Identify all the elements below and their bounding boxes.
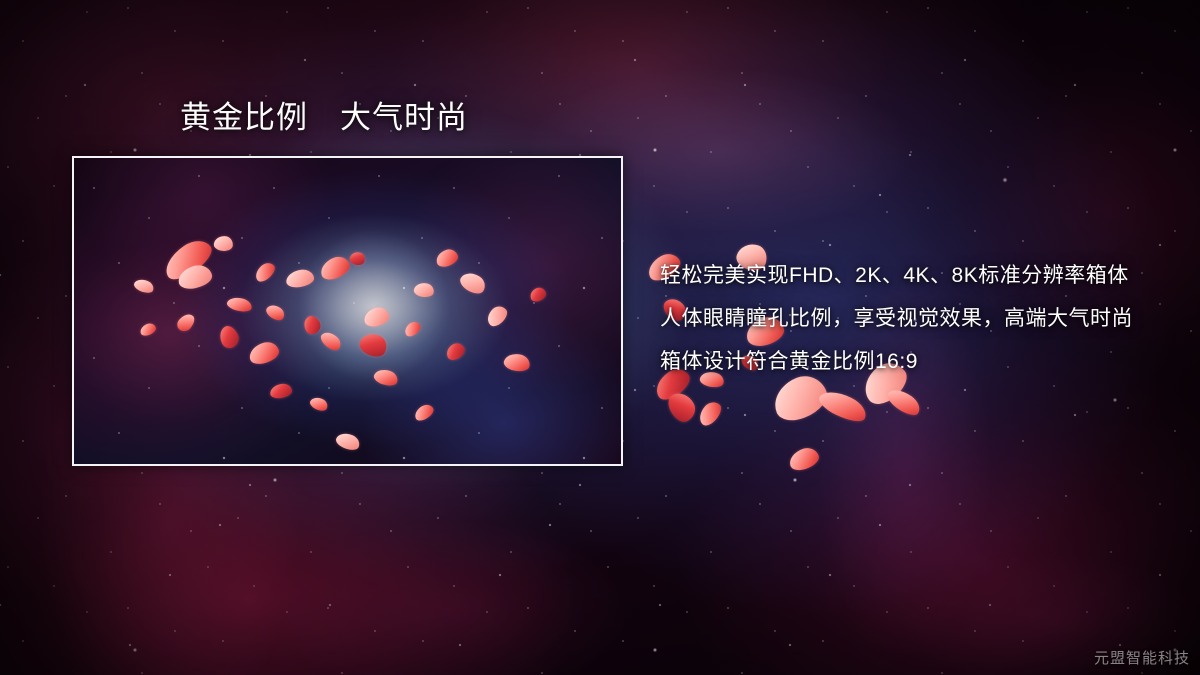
page-title: 黄金比例 大气时尚	[180, 101, 468, 135]
watermark-label: 元盟智能科技	[1094, 647, 1190, 668]
body-line: 轻松完美实现FHD、2K、4K、8K标准分辨率箱体	[660, 254, 1160, 297]
body-text-block: 轻松完美实现FHD、2K、4K、8K标准分辨率箱体 人体眼睛瞳孔比例，享受视觉效…	[660, 254, 1160, 383]
body-line: 人体眼睛瞳孔比例，享受视觉效果，高端大气时尚	[660, 297, 1160, 340]
media-frame-core-glow	[74, 158, 621, 464]
body-line: 箱体设计符合黄金比例16:9	[660, 340, 1160, 383]
media-frame[interactable]	[72, 156, 623, 466]
presentation-slide: 黄金比例 大气时尚 轻松完美实现FHD、2K、4K、8K标准分辨率箱体 人体眼睛…	[0, 0, 1200, 675]
